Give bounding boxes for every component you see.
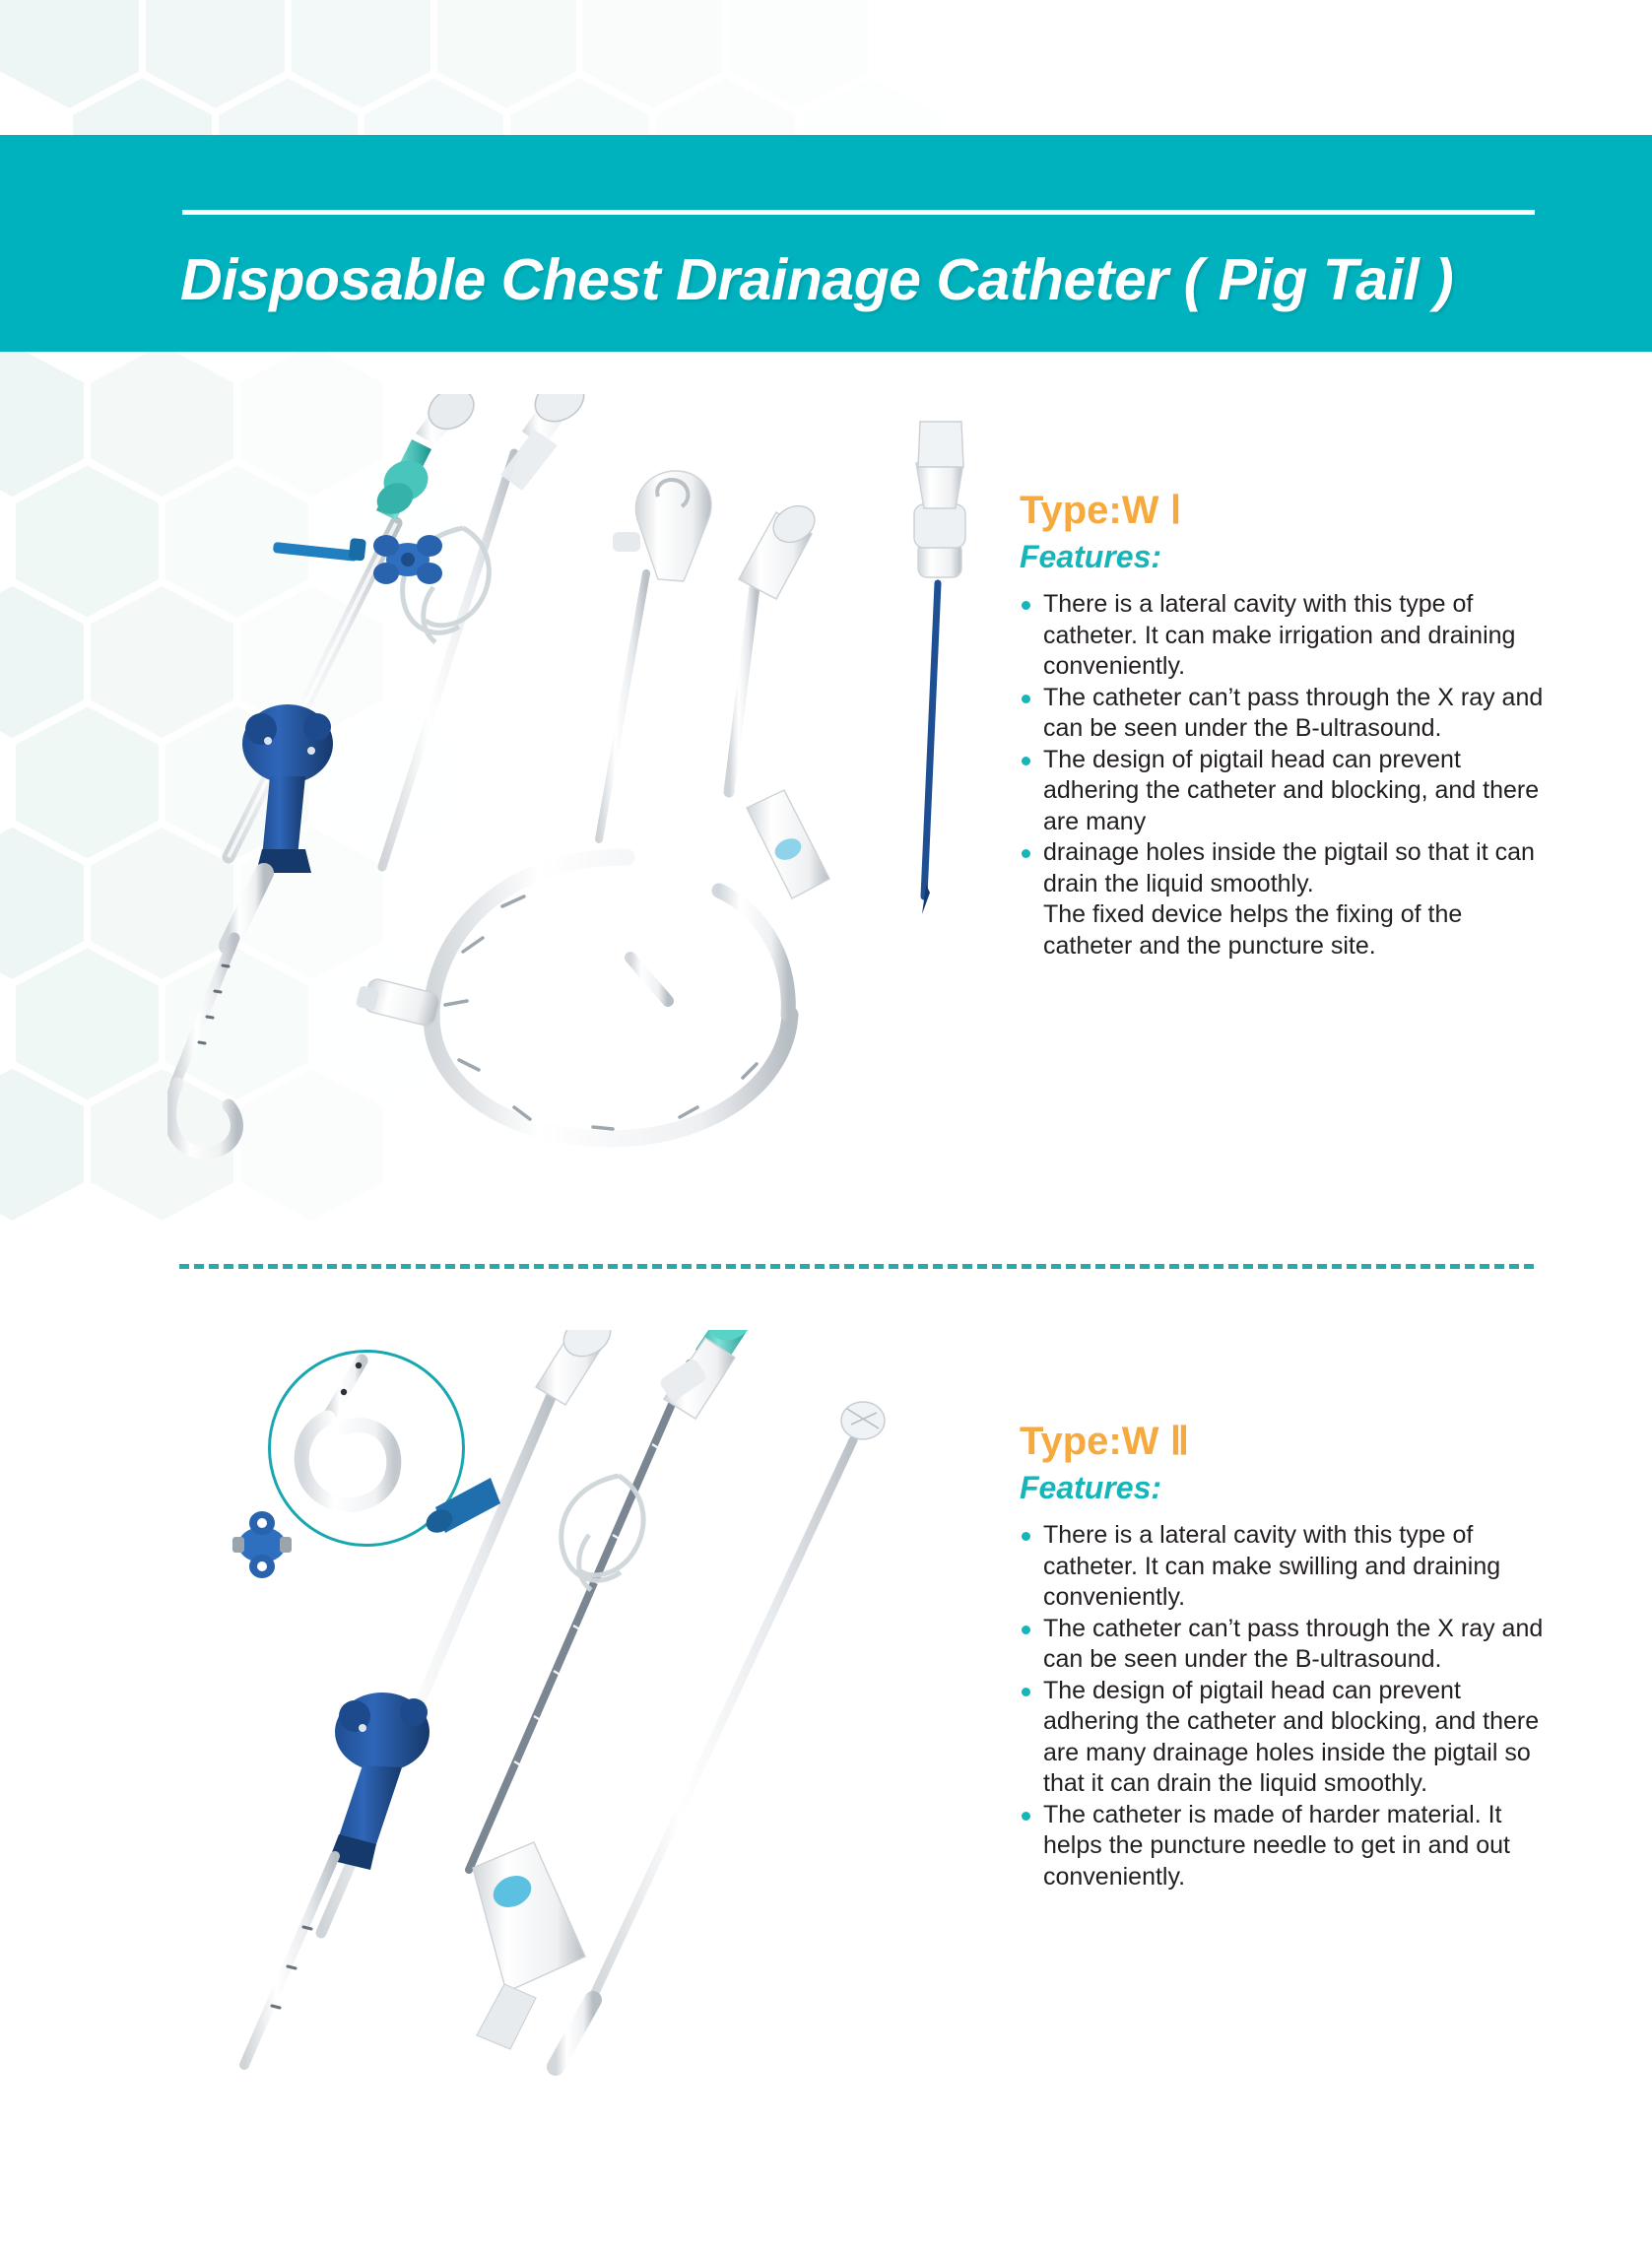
butterfly-fixation-clip-2 [232,1511,292,1578]
hexagon-shape [0,0,139,108]
bullet-dot-icon [1022,849,1030,858]
hexagon-shape [292,0,430,108]
hexagon-shape [583,0,722,108]
features-list-w1: There is a lateral cavity with this type… [1020,589,1552,962]
puncture-needle [914,422,965,914]
feature-text: The catheter can’t pass through the X ra… [1043,684,1543,743]
bullet-dot-icon [1022,695,1030,703]
bullet-dot-icon [1022,757,1030,765]
catheter-hub [613,471,711,581]
page-title: Disposable Chest Drainage Catheter ( Pig… [180,246,1559,313]
feature-text: The catheter is made of harder material.… [1043,1801,1510,1891]
banner-divider-rule [182,210,1535,215]
feature-text: There is a lateral cavity with this type… [1043,1521,1500,1611]
teal-valve-hub [371,394,481,520]
catalog-page: Disposable Chest Drainage Catheter ( Pig… [0,0,1652,2257]
hexagon-shape [146,0,285,108]
feature-text: The design of pigtail head can prevent a… [1043,746,1539,835]
guidewire-w2 [556,1402,885,2067]
feature-item: The fixed device helps the fixing of the… [1020,899,1552,962]
type-heading-w1: Type:W Ⅰ [1020,488,1552,533]
hexagon-pattern-top [0,0,1005,158]
section-type-w1: Type:W Ⅰ Features: There is a lateral ca… [0,374,1652,1222]
section-type-w2: Type:W Ⅱ Features: There is a lateral ca… [0,1310,1652,2098]
feature-text: The fixed device helps the fixing of the… [1043,900,1462,960]
feature-text: drainage holes inside the pigtail so tha… [1043,838,1535,897]
feature-item: There is a lateral cavity with this type… [1020,589,1552,683]
bullet-dot-icon [1022,1532,1030,1541]
feature-item: The design of pigtail head can prevent a… [1020,745,1552,838]
hexagon-shape [875,0,1014,108]
product-photo-type-w2 [227,1330,1005,2079]
bullet-dot-icon [1022,601,1030,610]
product-photo-type-w1 [167,394,1005,1172]
introducer-hub-w2 [473,1842,585,2049]
roller-clamp [747,790,829,898]
feature-text: The design of pigtail head can prevent a… [1043,1677,1539,1798]
text-column-type-w1: Type:W Ⅰ Features: There is a lateral ca… [1020,488,1552,962]
bullet-dot-icon [1022,1626,1030,1634]
feature-item: The catheter can’t pass through the X ra… [1020,683,1552,745]
feature-item: There is a lateral cavity with this type… [1020,1520,1552,1614]
bullet-dot-icon [1022,1812,1030,1821]
features-list-w2: There is a lateral cavity with this type… [1020,1520,1552,1892]
text-column-type-w2: Type:W Ⅱ Features: There is a lateral ca… [1020,1419,1552,1892]
feature-text: The catheter can’t pass through the X ra… [1043,1615,1543,1674]
navy-clamp-2 [329,1693,430,1870]
feature-item: drainage holes inside the pigtail so tha… [1020,837,1552,899]
feature-item: The catheter is made of harder material.… [1020,1800,1552,1893]
hexagon-shape [437,0,576,108]
header-banner: Disposable Chest Drainage Catheter ( Pig… [0,135,1652,352]
feature-item: The catheter can’t pass through the X ra… [1020,1614,1552,1676]
bullet-dot-icon [1022,1688,1030,1696]
features-heading-w2: Features: [1020,1470,1552,1506]
hexagon-shape [729,0,868,108]
type-heading-w2: Type:W Ⅱ [1020,1419,1552,1464]
section-divider [179,1264,1534,1269]
feature-text: There is a lateral cavity with this type… [1043,590,1515,680]
features-heading-w1: Features: [1020,539,1552,575]
feature-item: The design of pigtail head can prevent a… [1020,1676,1552,1800]
coiled-catheter [356,471,829,1139]
